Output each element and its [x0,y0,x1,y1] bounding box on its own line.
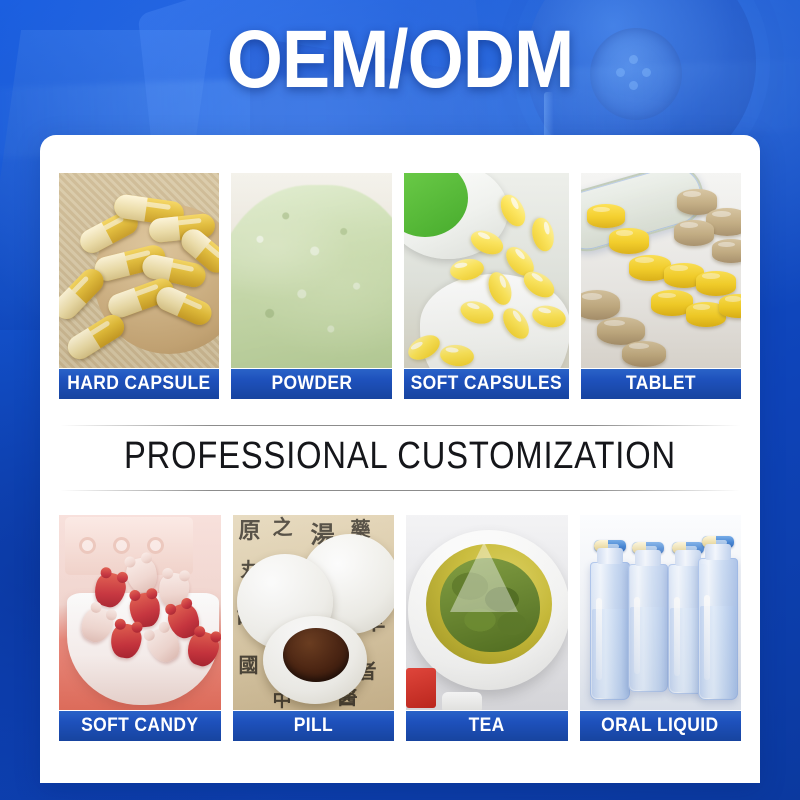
oral-liquid-vial [698,558,738,700]
product-card-powder[interactable]: POWDER [231,173,391,399]
pyramid-tea-bag [450,542,518,612]
oem-odm-poster: OEM/ODM [0,0,800,800]
product-image-hard-capsule [59,173,219,368]
page-title: OEM/ODM [48,16,752,105]
product-label-tea: TEA [406,711,568,741]
oral-liquid-vial [590,562,630,700]
product-image-soft-capsules [404,173,569,368]
content-panel: HARD CAPSULE POWDER [40,135,760,783]
section-banner: PROFESSIONAL CUSTOMIZATION [60,425,740,491]
product-card-soft-capsules[interactable]: SOFT CAPSULES [404,173,569,399]
product-label-pill: PILL [233,711,395,741]
product-label-soft-capsules: SOFT CAPSULES [404,369,569,399]
herbal-bolus [283,628,349,682]
product-label-powder: POWDER [231,369,391,399]
product-label-oral-liquid: ORAL LIQUID [580,711,742,741]
product-label-hard-capsule: HARD CAPSULE [59,369,219,399]
tea-tag [406,668,436,708]
powder-grain-texture [231,173,391,368]
product-row-bottom: SOFT CANDY 原 之 湯 藥 丸 方 胡 草 國 [58,515,742,741]
product-card-oral-liquid[interactable]: ORAL LIQUID [580,515,742,741]
product-image-powder [231,173,391,368]
banner-divider-bottom [60,490,740,491]
product-card-tablet[interactable]: TABLET [581,173,741,399]
product-card-hard-capsule[interactable]: HARD CAPSULE [59,173,219,399]
product-label-soft-candy: SOFT CANDY [59,711,221,741]
product-image-soft-candy [59,515,221,710]
product-row-top: HARD CAPSULE POWDER [58,173,742,399]
product-image-pill: 原 之 湯 藥 丸 方 胡 草 國 本 者 中 醫 [233,515,395,710]
product-card-pill[interactable]: 原 之 湯 藥 丸 方 胡 草 國 本 者 中 醫 [233,515,395,741]
cup-handle [442,692,482,710]
oral-liquid-vial [628,564,668,692]
product-image-tablet [581,173,741,368]
banner-divider-top [60,425,740,426]
product-card-tea[interactable]: TEA [406,515,568,741]
product-image-oral-liquid [580,515,742,710]
product-card-soft-candy[interactable]: SOFT CANDY [59,515,221,741]
product-image-tea [406,515,568,710]
product-label-tablet: TABLET [581,369,741,399]
banner-text: PROFESSIONAL CUSTOMIZATION [108,435,693,479]
